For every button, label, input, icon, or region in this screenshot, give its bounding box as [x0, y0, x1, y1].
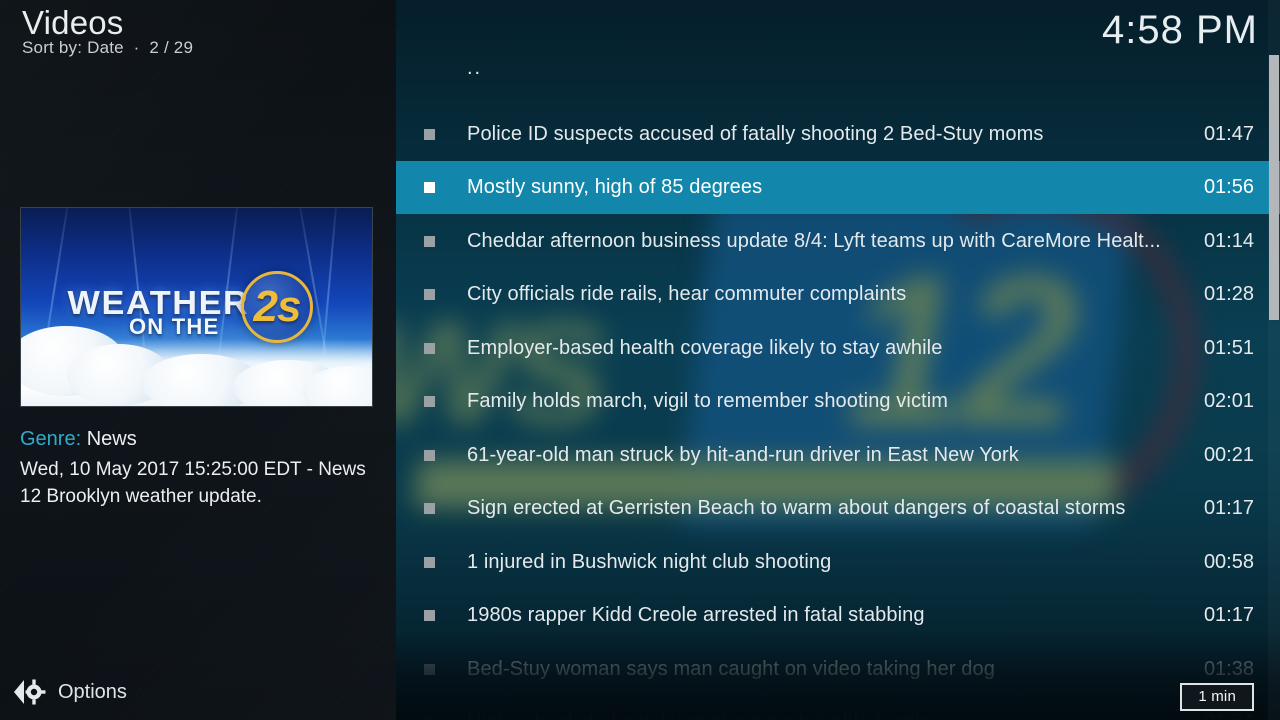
list-item-duration: 01:54: [1198, 711, 1254, 720]
list-item-title: Cheddar afternoon business update 8/4: L…: [467, 230, 1198, 253]
video-file-icon: [424, 557, 435, 568]
left-info-panel: Videos Sort by: Date · 2 / 29 WEATHER ON…: [0, 0, 396, 720]
video-file-icon: [424, 396, 435, 407]
duration-badge: 1 min: [1180, 683, 1254, 711]
options-label: Options: [58, 681, 127, 704]
video-list[interactable]: ..Police ID suspects accused of fatally …: [396, 0, 1280, 720]
list-item-title: Sign erected at Gerristen Beach to warm …: [467, 497, 1198, 520]
video-file-icon: [424, 289, 435, 300]
video-file-icon: [424, 182, 435, 193]
list-item-duration: 01:17: [1198, 497, 1254, 520]
list-item-duration: 01:14: [1198, 230, 1254, 253]
list-item-duration: 01:51: [1198, 337, 1254, 360]
list-item[interactable]: Family holds march, vigil to remember sh…: [396, 375, 1280, 429]
list-item[interactable]: High school students learn about sustain…: [396, 696, 1280, 720]
list-item[interactable]: 61-year-old man struck by hit-and-run dr…: [396, 428, 1280, 482]
video-file-icon: [424, 129, 435, 140]
list-item-title: City officials ride rails, hear commuter…: [467, 283, 1198, 306]
genre-row: Genre: News: [20, 428, 137, 451]
plot-description: Wed, 10 May 2017 15:25:00 EDT - News 12 …: [20, 456, 380, 510]
list-item-duration: 00:58: [1198, 551, 1254, 574]
list-item-duration: 01:17: [1198, 604, 1254, 627]
list-item[interactable]: Sign erected at Gerristen Beach to warm …: [396, 482, 1280, 536]
list-item-title: 1980s rapper Kidd Creole arrested in fat…: [467, 604, 1198, 627]
list-item[interactable]: City officials ride rails, hear commuter…: [396, 268, 1280, 322]
genre-value: News: [87, 428, 137, 450]
video-file-icon: [424, 236, 435, 247]
list-item-title: 61-year-old man struck by hit-and-run dr…: [467, 444, 1198, 467]
video-file-icon: [424, 503, 435, 514]
list-item-title: Mostly sunny, high of 85 degrees: [467, 176, 1198, 199]
video-file-icon: [424, 610, 435, 621]
video-thumbnail: WEATHER ON THE 2s: [20, 207, 373, 407]
list-item-title: Police ID suspects accused of fatally sh…: [467, 123, 1198, 146]
list-item[interactable]: Mostly sunny, high of 85 degrees01:56: [396, 161, 1280, 215]
list-item-duration: 01:28: [1198, 283, 1254, 306]
list-item[interactable]: Cheddar afternoon business update 8/4: L…: [396, 214, 1280, 268]
list-item-title: Bed-Stuy woman says man caught on video …: [467, 658, 1198, 681]
thumbnail-title-line2: ON THE: [129, 314, 219, 340]
list-scrollbar[interactable]: [1268, 0, 1280, 720]
options-button[interactable]: Options: [8, 672, 127, 712]
parent-folder-label: ..: [467, 57, 482, 80]
clock: 4:58 PM: [1102, 8, 1258, 53]
video-file-icon: [424, 450, 435, 461]
video-list-panel: ws 12 ..Police ID suspects accused of fa…: [396, 0, 1280, 720]
gear-left-arrow-icon: [8, 675, 46, 709]
list-item-duration: 01:47: [1198, 123, 1254, 146]
list-item[interactable]: 1980s rapper Kidd Creole arrested in fat…: [396, 589, 1280, 643]
list-item-duration: 01:56: [1198, 176, 1254, 199]
list-item-duration: 01:38: [1198, 658, 1254, 681]
list-item-duration: 02:01: [1198, 390, 1254, 413]
list-item-title: High school students learn about sustain…: [467, 711, 1198, 720]
video-file-icon: [424, 664, 435, 675]
list-item[interactable]: Bed-Stuy woman says man caught on video …: [396, 642, 1280, 696]
scrollbar-thumb[interactable]: [1269, 55, 1279, 320]
genre-label: Genre:: [20, 428, 81, 450]
list-item-title: 1 injured in Bushwick night club shootin…: [467, 551, 1198, 574]
page-title: Videos: [22, 4, 124, 42]
thumbnail-image: WEATHER ON THE 2s: [21, 208, 372, 406]
list-item[interactable]: Police ID suspects accused of fatally sh…: [396, 107, 1280, 161]
video-file-icon: [424, 343, 435, 354]
thumbnail-badge-label: 2s: [243, 278, 311, 336]
list-item-title: Family holds march, vigil to remember sh…: [467, 390, 1198, 413]
list-item-title: Employer-based health coverage likely to…: [467, 337, 1198, 360]
list-item[interactable]: 1 injured in Bushwick night club shootin…: [396, 535, 1280, 589]
sort-and-count-label: Sort by: Date · 2 / 29: [22, 38, 193, 58]
list-item-duration: 00:21: [1198, 444, 1254, 467]
kodi-video-browser: Videos Sort by: Date · 2 / 29 WEATHER ON…: [0, 0, 1280, 720]
list-item[interactable]: Employer-based health coverage likely to…: [396, 321, 1280, 375]
